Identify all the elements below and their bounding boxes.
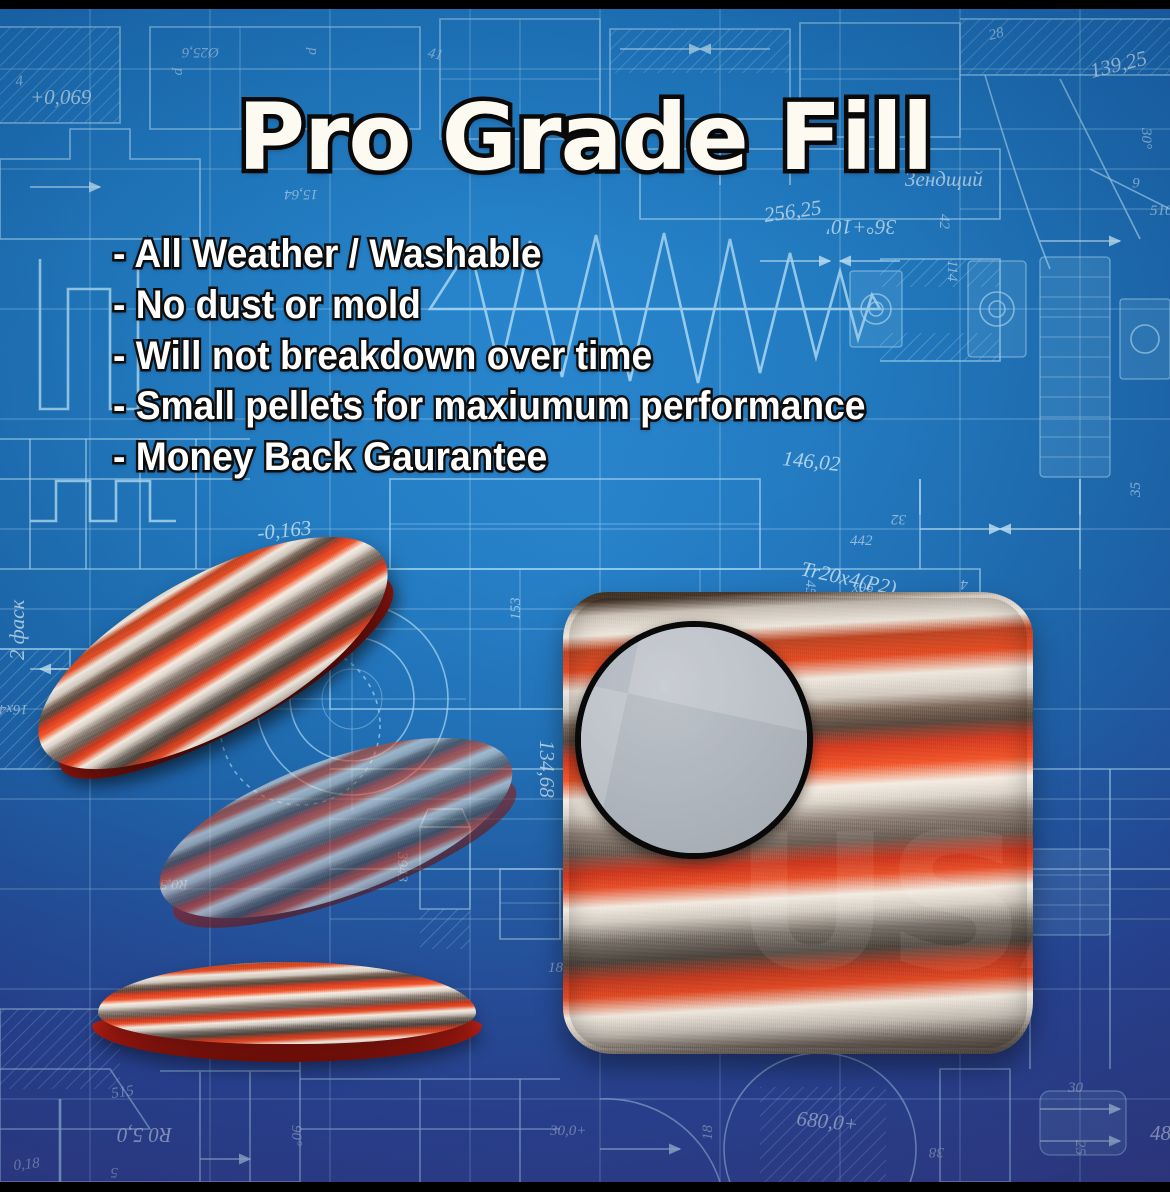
blueprint-dimension-label: Ø29 <box>292 544 319 560</box>
blueprint-dimension-label: 48-741 <box>1150 1121 1170 1145</box>
page-title: Pro Grade Fill <box>0 92 1170 184</box>
blueprint-dimension-label: 2 фаск <box>5 600 29 660</box>
blueprint-dimension-label: 16x45 <box>0 701 28 717</box>
blueprint-dimension-label: 515 <box>110 1083 135 1102</box>
blueprint-dimension-label: 114 <box>944 260 960 282</box>
blueprint-dimension-label: 153 <box>508 598 524 621</box>
blueprint-dimension-label: 32 <box>891 511 908 527</box>
blueprint-dimension-label: 455 <box>802 580 818 603</box>
feature-list: - All Weather / Washable - No dust or mo… <box>113 232 922 480</box>
advertisement-banner: +0,0694Ø25,6pd4115,64139,2530°6510256,25… <box>0 0 1170 1192</box>
blueprint-dimension-label: R0,5 <box>160 876 189 892</box>
blueprint-dimension-label: 38 <box>929 1144 946 1160</box>
blueprint-dimension-label: 0,18 <box>13 1155 41 1174</box>
blueprint-dimension-label: 4 <box>960 576 968 592</box>
letterbox-bottom <box>0 1182 1170 1192</box>
blueprint-dimension-label: 256,25 <box>762 195 823 227</box>
blueprint-dimension-label: 18 <box>548 960 564 976</box>
blueprint-dimension-label: 18 <box>700 1125 716 1141</box>
letterbox-top <box>0 0 1170 9</box>
blueprint-dimension-label: 42 <box>936 214 952 230</box>
list-item: - Small pellets for maxiumum performance <box>113 384 865 429</box>
blueprint-dimension-label: 35 <box>1128 482 1144 499</box>
list-item: - All Weather / Washable <box>113 232 865 277</box>
blueprint-dimension-label: 41 <box>426 45 444 64</box>
blueprint-dimension-label: 510 <box>1150 203 1170 219</box>
blueprint-dimension-label: 30,0+ <box>549 1123 586 1139</box>
list-item: - Money Back Gaurantee <box>113 435 865 480</box>
blueprint-dimension-label: 90° <box>288 1125 304 1146</box>
blueprint-dimension-label: 442 <box>850 533 873 549</box>
blueprint-dimension-label: -0,163 <box>256 515 312 545</box>
blueprint-dimension-label: 25 <box>1072 1140 1088 1156</box>
blueprint-dimension-label: 3943 <box>394 851 410 882</box>
blueprint-dimension-label: 30 <box>1067 1080 1084 1096</box>
blueprint-dimension-label: p <box>171 67 187 76</box>
blueprint-dimension-label: 40 <box>128 628 144 644</box>
list-item: - No dust or mold <box>113 283 865 328</box>
blueprint-annotations: +0,0694Ø25,6pd4115,64139,2530°6510256,25… <box>0 25 1170 1180</box>
blueprint-dimension-label: R0 5,0 <box>117 1123 173 1147</box>
blueprint-dimension-label: 5 <box>110 1164 118 1180</box>
blueprint-dimension-label: 134,68 <box>535 740 559 798</box>
blueprint-dimension-label: d <box>304 47 320 55</box>
list-item: - Will not breakdown over time <box>113 334 865 379</box>
blueprint-dimension-label: Ø25,6 <box>181 44 220 60</box>
